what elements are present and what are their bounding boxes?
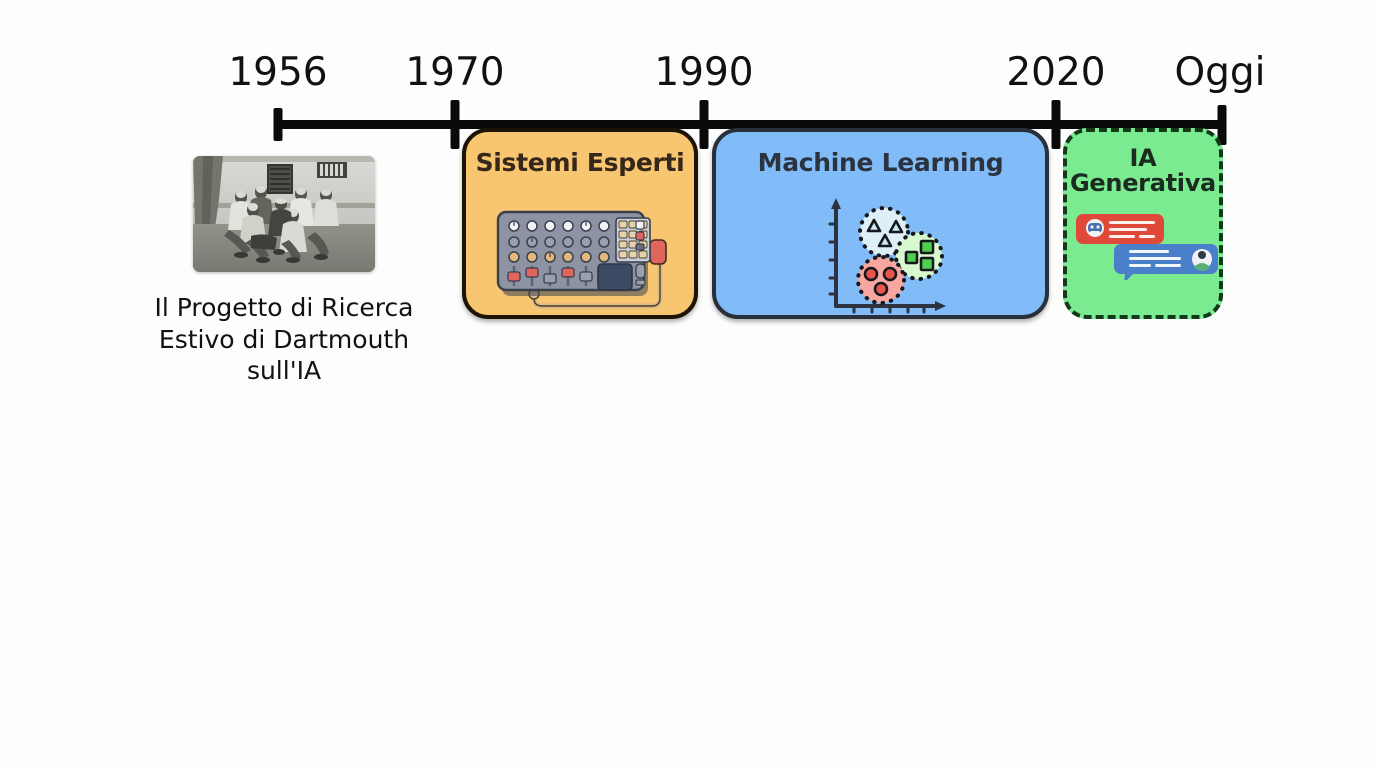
caption-line-2: Estivo di Dartmouth sull'IA xyxy=(138,324,430,387)
card-ia-generativa-title-line1: IA xyxy=(1067,146,1219,171)
card-ia-generativa-title-line2: Generativa xyxy=(1067,171,1219,196)
year-label-oggi: Oggi xyxy=(1174,50,1265,95)
cluster-scatter-plot-icon xyxy=(824,194,948,316)
control-console-illustration xyxy=(480,198,688,316)
dartmouth-photo-caption: Il Progetto di Ricerca Estivo di Dartmou… xyxy=(138,292,430,387)
timeline-tick-1970 xyxy=(451,100,460,149)
dartmouth-photo-block: Il Progetto di Ricerca Estivo di Dartmou… xyxy=(138,156,430,387)
year-label-1990: 1990 xyxy=(654,50,753,95)
timeline-tick-1956 xyxy=(274,108,283,141)
card-machine-learning[interactable]: Machine Learning xyxy=(712,128,1049,319)
chat-bubbles-icon xyxy=(1073,210,1221,280)
timeline-infographic: 1956 1970 1990 2020 Oggi xyxy=(0,0,1376,768)
timeline-tick-1990 xyxy=(700,100,709,149)
card-machine-learning-title: Machine Learning xyxy=(716,132,1045,177)
year-label-2020: 2020 xyxy=(1006,50,1105,95)
control-console-icon xyxy=(480,198,688,316)
card-ia-generativa-title: IA Generativa xyxy=(1067,132,1219,197)
card-sistemi-esperti-title: Sistemi Esperti xyxy=(466,132,694,177)
caption-line-1: Il Progetto di Ricerca xyxy=(138,292,430,324)
year-label-1970: 1970 xyxy=(405,50,504,95)
timeline-tick-2020 xyxy=(1052,100,1061,149)
year-label-1956: 1956 xyxy=(228,50,327,95)
chat-bubbles-illustration xyxy=(1073,210,1221,280)
dartmouth-photo xyxy=(193,156,375,272)
card-sistemi-esperti[interactable]: Sistemi Esperti xyxy=(462,128,698,319)
cluster-scatter-plot-illustration xyxy=(824,194,948,316)
card-ia-generativa[interactable]: IA Generativa xyxy=(1063,128,1223,319)
dartmouth-photo-image xyxy=(193,156,375,272)
